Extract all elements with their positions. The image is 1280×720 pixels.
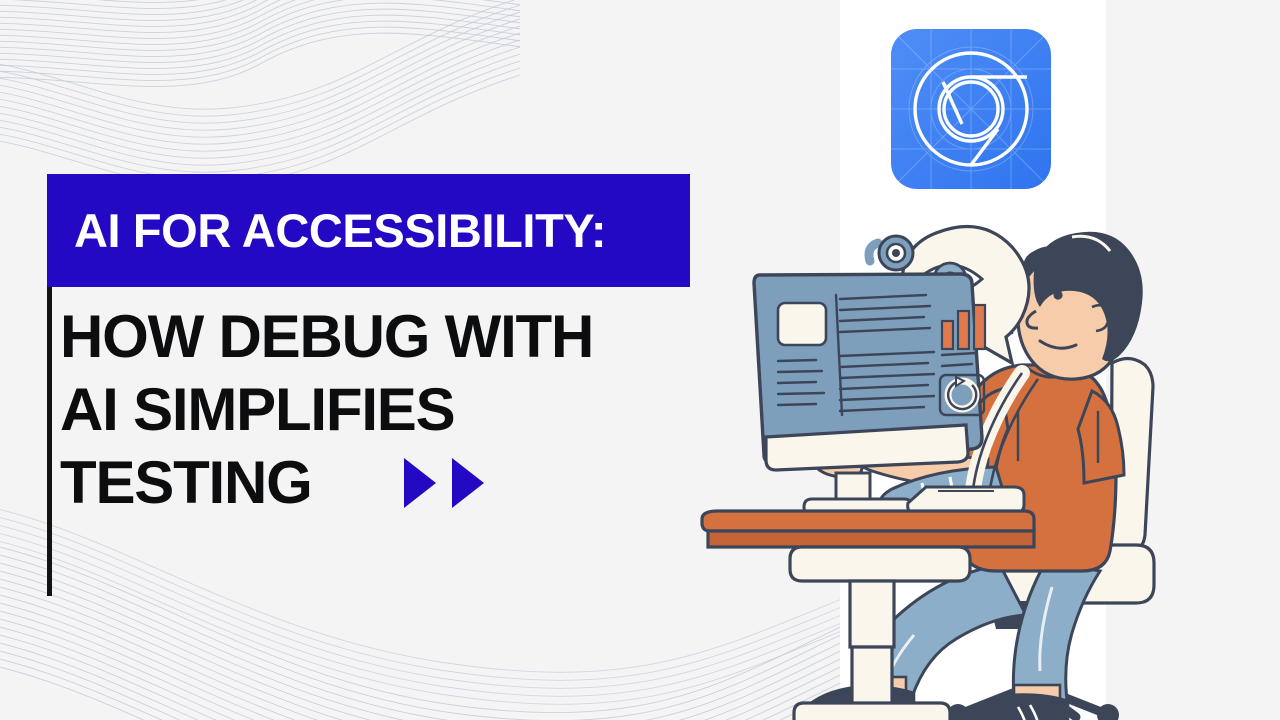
play-arrow-icon: [452, 458, 484, 508]
banner-canvas: AI FOR ACCESSIBILITY: HOW DEBUG WITH AI …: [0, 0, 1280, 720]
headline-line-1: HOW DEBUG WITH: [60, 300, 720, 373]
headline-line-3: TESTING: [60, 446, 312, 519]
arrow-group: [404, 458, 484, 508]
play-arrow-icon: [404, 458, 436, 508]
headline-line-3-wrapper: TESTING: [60, 446, 720, 519]
eyebrow-text: AI FOR ACCESSIBILITY:: [47, 207, 606, 254]
keyboard-and-mouse: [908, 487, 1024, 513]
desk-top: [702, 511, 1034, 531]
person-legs: [797, 561, 1100, 720]
webcam-icon: [869, 236, 913, 270]
chromium-blueprint-logo-icon: [888, 26, 1054, 192]
developer-at-standing-desk-illustration: [700, 215, 1280, 720]
chair-caster: [1097, 704, 1119, 720]
headline-line-2: AI SIMPLIFIES: [60, 373, 720, 446]
eyebrow-banner: AI FOR ACCESSIBILITY:: [47, 174, 690, 287]
image-placeholder: [778, 303, 826, 345]
page-title: HOW DEBUG WITH AI SIMPLIFIES TESTING: [60, 300, 720, 519]
sneaker: [955, 695, 1068, 720]
